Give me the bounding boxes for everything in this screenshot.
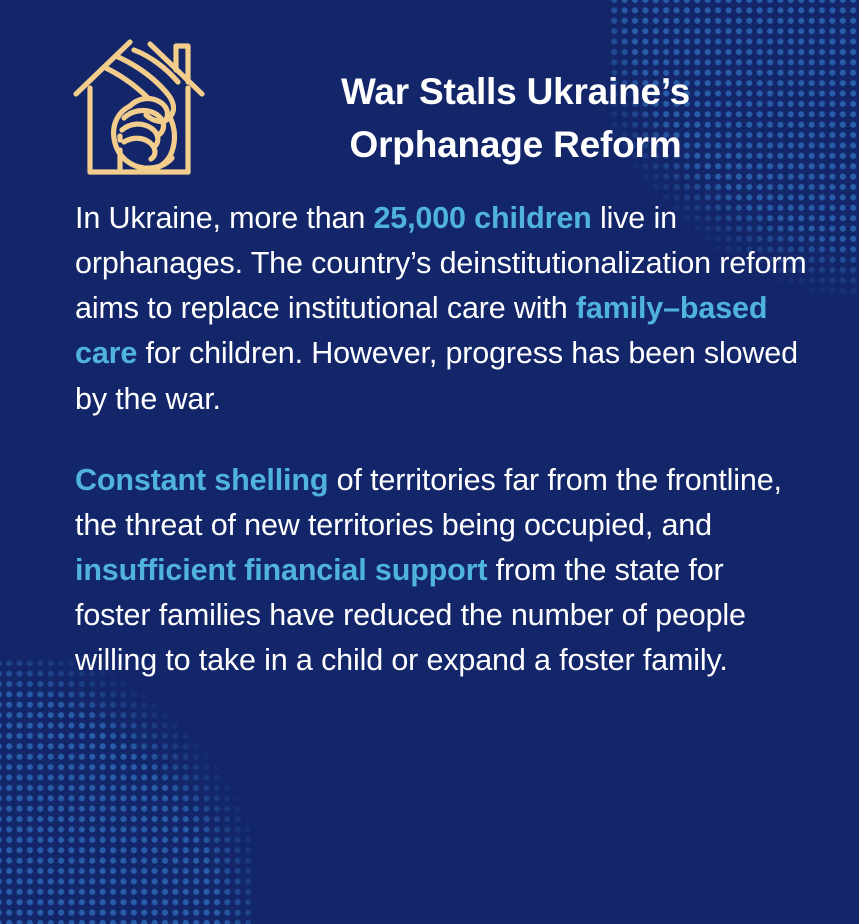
house-with-hands-icon [72,32,208,184]
body-text: In Ukraine, more than [75,201,373,235]
paragraph-1: In Ukraine, more than 25,000 children li… [75,196,807,422]
page-title-line-2: Orphanage Reform [226,119,805,172]
body-copy: In Ukraine, more than 25,000 children li… [0,184,859,683]
paragraph-2: Constant shelling of territories far fro… [75,458,807,684]
highlighted-text: insufficient financial support [75,553,487,587]
page-title: War Stalls Ukraine’s Orphanage Reform [208,28,819,171]
body-text: for children. However, progress has been… [75,336,798,415]
dot-pattern-bottom-left-decoration [0,658,252,924]
highlighted-text: Constant shelling [75,463,328,497]
highlighted-text: 25,000 children [373,201,591,235]
infographic-card: War Stalls Ukraine’s Orphanage Reform In… [0,0,859,924]
page-title-line-1: War Stalls Ukraine’s [341,71,690,112]
header: War Stalls Ukraine’s Orphanage Reform [0,0,859,184]
